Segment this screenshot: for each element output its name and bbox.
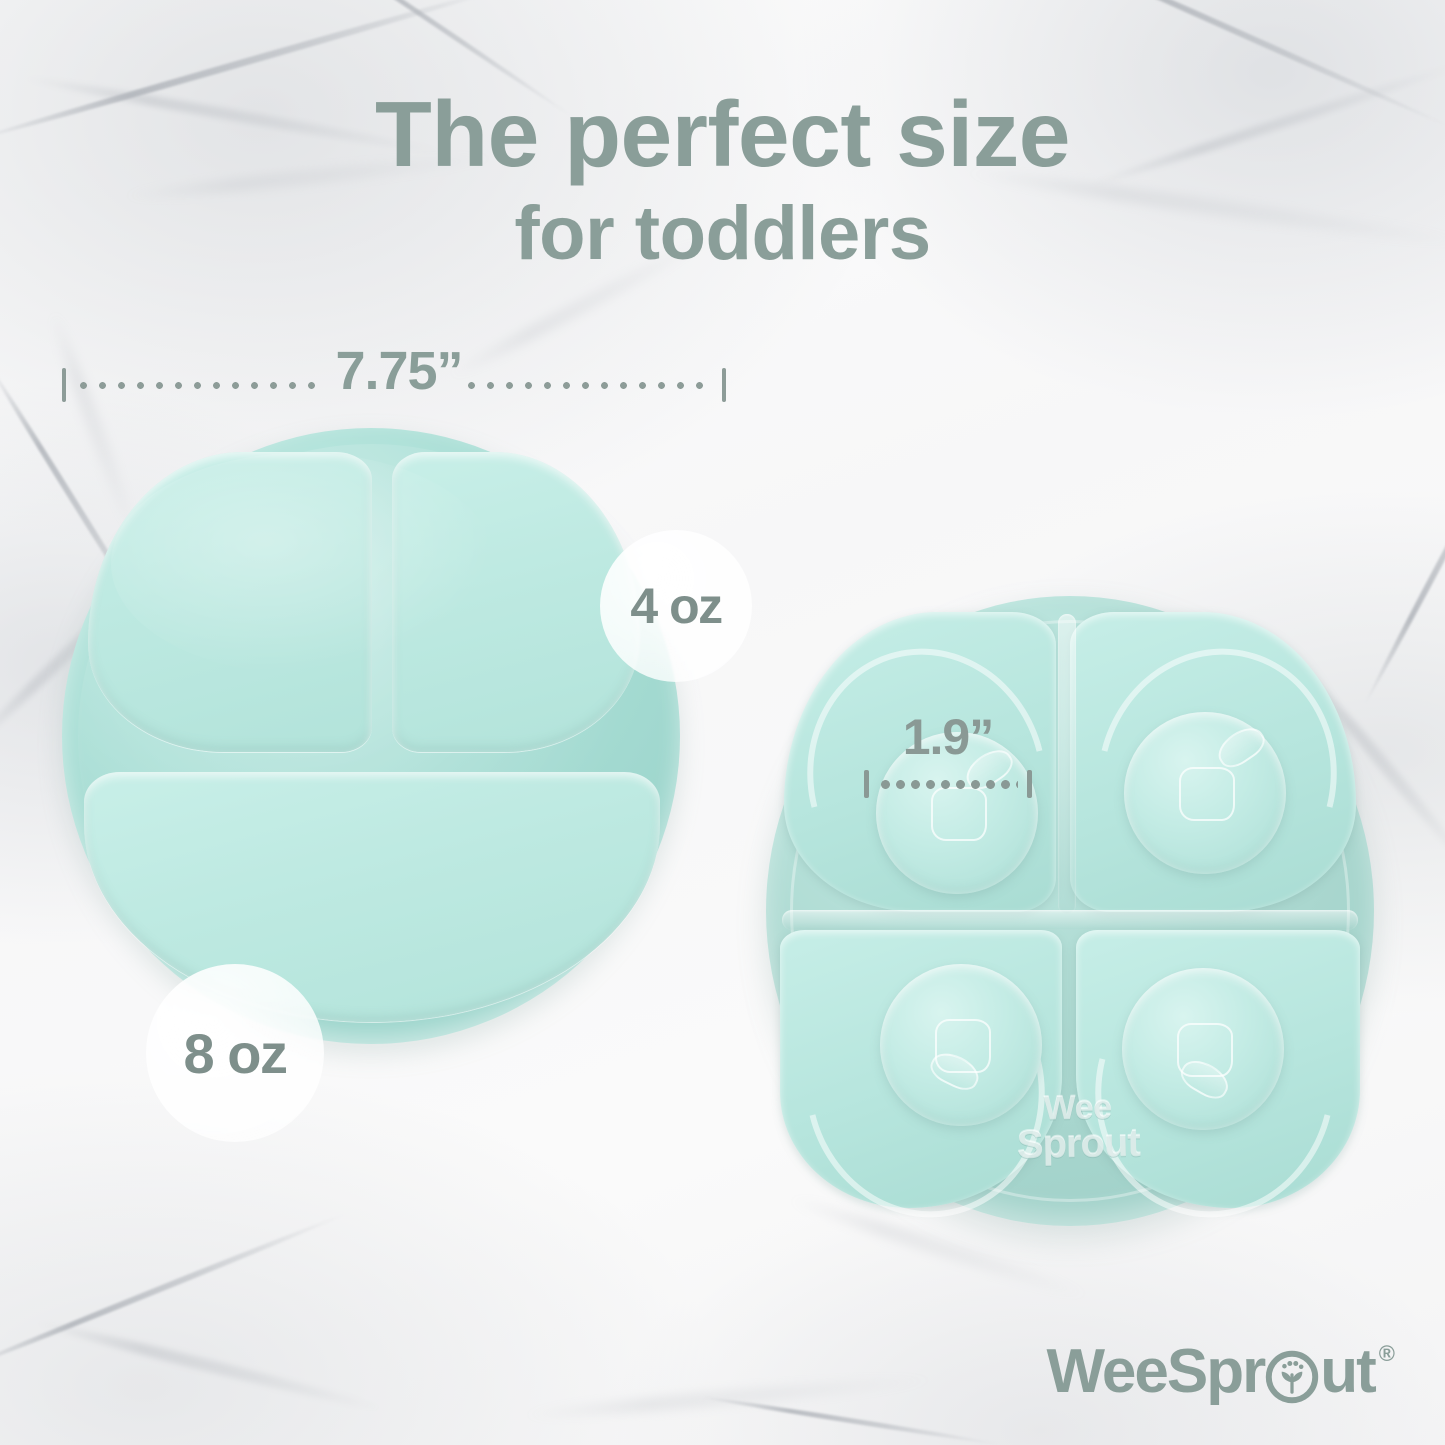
suction-tab-icon [1176, 1054, 1234, 1105]
well-dimension-end-cap-right [1027, 770, 1032, 798]
brand-name-part-1: WeeSpr [1047, 1341, 1265, 1403]
volume-badge-8oz: 8 oz [146, 964, 324, 1142]
suction-tab-icon [926, 1047, 984, 1096]
underside-groove-vertical [1058, 614, 1076, 914]
plate-compartment-bottom [84, 772, 660, 1022]
product-infographic: The perfect size for toddlers 7.75” [0, 0, 1445, 1445]
brand-logo: WeeSpr ut ® [1047, 1341, 1393, 1403]
headline-line-2: for toddlers [0, 196, 1445, 272]
suction-well-dimension: 1.9” [864, 716, 1032, 798]
registered-trademark-symbol: ® [1379, 1343, 1393, 1365]
divided-plate-product [62, 428, 680, 1044]
embossed-brand-logo: Wee Sprout [989, 1090, 1166, 1166]
dimension-end-cap-right [722, 368, 726, 402]
headline-line-1: The perfect size [0, 88, 1445, 181]
well-dimension-leader [878, 780, 1018, 789]
dimension-leader-left [74, 382, 326, 389]
brand-name-part-2: ut [1320, 1341, 1375, 1403]
well-dimension-end-cap-left [864, 770, 869, 798]
underside-groove-horizontal [782, 910, 1358, 930]
dimension-end-cap-left [62, 368, 66, 402]
sprout-leaf-footprint-icon [1265, 1350, 1319, 1404]
embossed-logo-line-2: Sprout [990, 1124, 1167, 1166]
dimension-leader-right [462, 382, 714, 389]
plate-underside-product: Wee Sprout [766, 596, 1374, 1226]
plate-compartment-upper-left [88, 452, 372, 752]
plate-width-dimension: 7.75” [62, 362, 726, 408]
suction-well-value: 1.9” [864, 708, 1032, 766]
plate-width-value: 7.75” [334, 340, 464, 402]
suction-cup-top-right [1124, 712, 1286, 874]
volume-badge-4oz: 4 oz [600, 530, 752, 682]
